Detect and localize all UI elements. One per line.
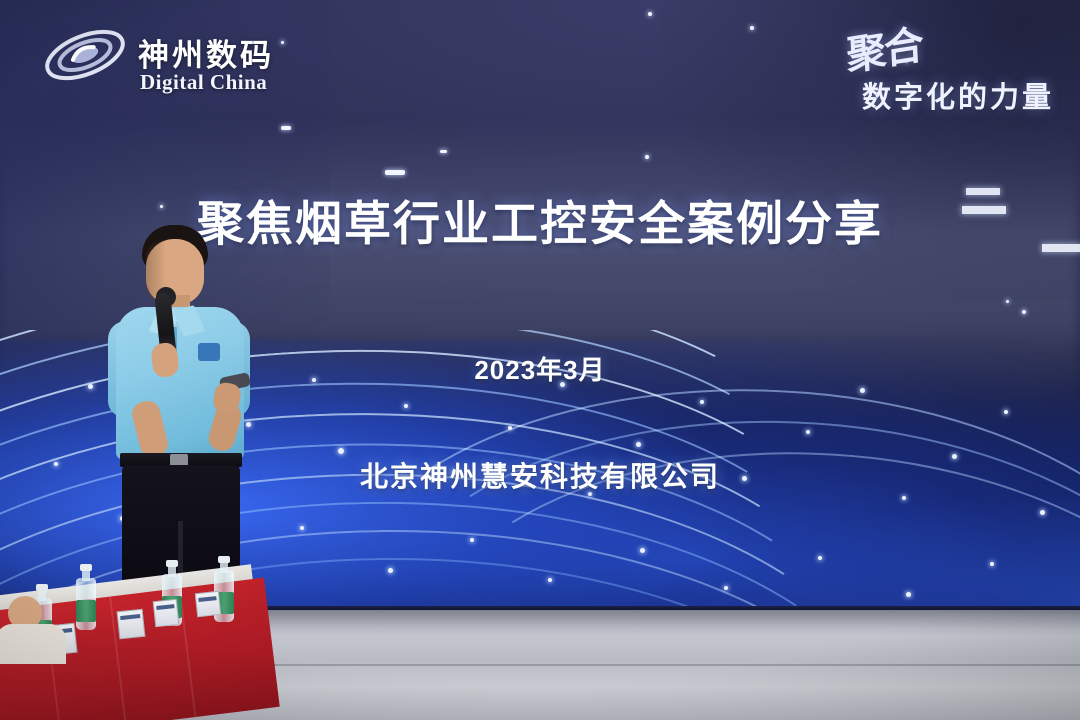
name-card (195, 591, 221, 617)
speaker-left-hand (150, 342, 179, 379)
event-tagline: 数字化的力量 (862, 74, 1054, 116)
event-calligraphy-text: 聚合 (845, 12, 923, 82)
brand-logo-digital-china: 神州数码 Digital China (42, 18, 302, 94)
speaker-shirt-logo (198, 343, 220, 361)
brand-name-en: Digital China (140, 70, 267, 95)
conference-stage-photo: 聚焦烟草行业工控安全案例分享 2023年3月 北京神州慧安科技有限公司 神州数码… (0, 0, 1080, 720)
name-card (117, 609, 146, 640)
name-card (153, 599, 180, 627)
event-logo: 聚合 数字化的力量 (804, 18, 1054, 114)
swirl-spiral-icon (42, 24, 128, 86)
attendee-body (0, 624, 66, 664)
seated-attendee (0, 596, 70, 658)
water-bottle (76, 564, 100, 634)
brand-name-cn: 神州数码 (138, 30, 274, 75)
